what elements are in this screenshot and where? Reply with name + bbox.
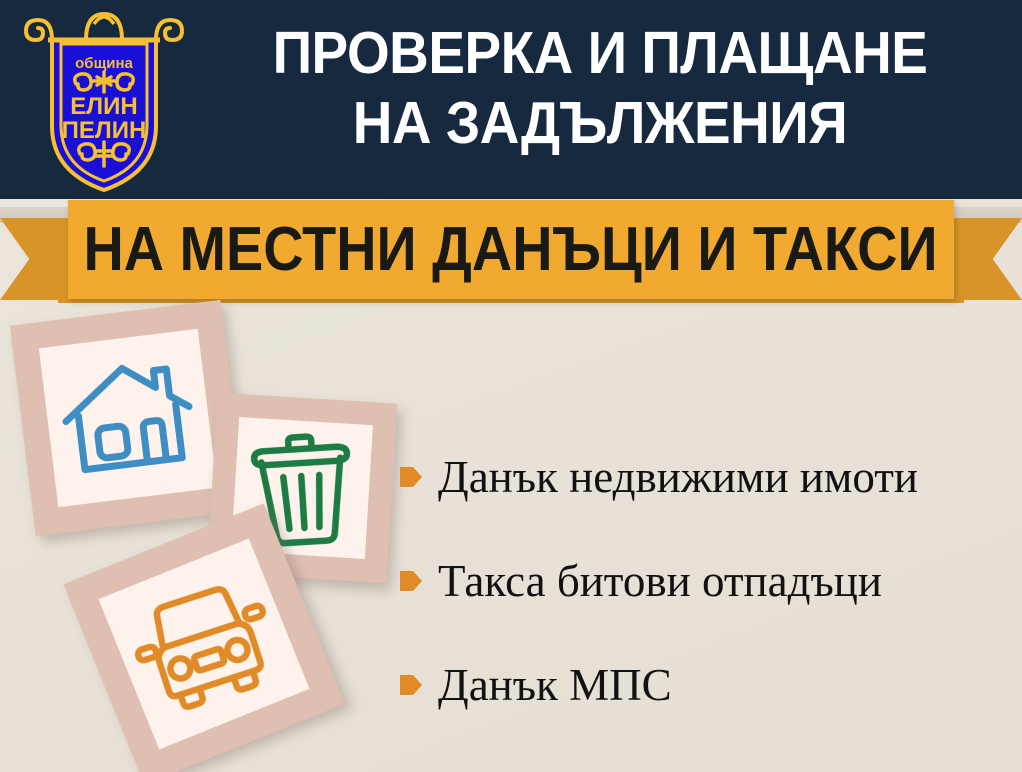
page-title-line-1: ПРОВЕРКА И ПЛАЩАНЕ: [219, 18, 982, 88]
page-title: ПРОВЕРКА И ПЛАЩАНЕ НА ЗАДЪЛЖЕНИЯ: [190, 18, 1010, 158]
bullet-arrow-icon: [400, 465, 422, 489]
logo-name-line1: ЕЛИН: [70, 93, 137, 120]
tax-type-list: Данък недвижими имоти Такса битови отпад…: [400, 425, 1010, 737]
poster-canvas: община ЕЛИН ПЕЛИН ПРОВЕРКА И ПЛАЩАНЕ НА …: [0, 0, 1022, 772]
list-item[interactable]: Такса битови отпадъци: [400, 529, 1010, 633]
list-item-label: Данък МПС: [438, 659, 672, 711]
page-title-line-2: НА ЗАДЪЛЖЕНИЯ: [219, 88, 982, 158]
municipality-logo: община ЕЛИН ПЕЛИН: [24, 6, 184, 196]
coat-of-arms-icon: община ЕЛИН ПЕЛИН: [24, 6, 184, 196]
list-item[interactable]: Данък недвижими имоти: [400, 425, 1010, 529]
subtitle-ribbon: НА МЕСТНИ ДАНЪЦИ И ТАКСИ: [0, 199, 1022, 309]
list-item-label: Такса битови отпадъци: [438, 555, 882, 607]
bullet-arrow-icon: [400, 673, 422, 697]
bullet-arrow-icon: [400, 569, 422, 593]
logo-top-label: община: [75, 55, 133, 72]
ribbon-label: НА МЕСТНИ ДАНЪЦИ И ТАКСИ: [84, 219, 938, 281]
header-band: община ЕЛИН ПЕЛИН ПРОВЕРКА И ПЛАЩАНЕ НА …: [0, 0, 1022, 199]
list-item-label: Данък недвижими имоти: [438, 451, 918, 503]
list-item[interactable]: Данък МПС: [400, 633, 1010, 737]
logo-name-line2: ПЕЛИН: [62, 117, 147, 144]
ribbon-banner: НА МЕСТНИ ДАНЪЦИ И ТАКСИ: [68, 200, 954, 299]
